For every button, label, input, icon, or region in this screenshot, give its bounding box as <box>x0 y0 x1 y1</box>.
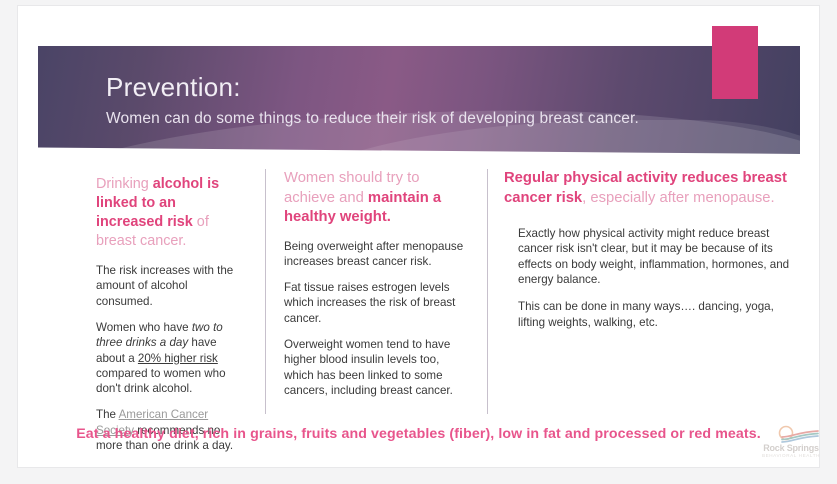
column-physical-activity: Regular physical activity reduces breast… <box>487 169 800 414</box>
column-heading: Women should try to achieve and maintain… <box>284 169 471 228</box>
column-heading: Regular physical activity reduces breast… <box>504 169 790 208</box>
column-healthy-weight: Women should try to achieve and maintain… <box>265 169 487 414</box>
logo-tagline: BEHAVIORAL HEALTH <box>760 453 822 458</box>
header-text-group: Prevention: Women can do some things to … <box>106 74 766 128</box>
body-paragraph: Being overweight after menopause increas… <box>284 239 471 270</box>
text-fragment: compared to women who don't drink alcoho… <box>96 367 226 395</box>
text-fragment-underlined: 20% higher risk <box>138 352 218 365</box>
slide-canvas: Prevention: Women can do some things to … <box>18 6 819 467</box>
text-fragment: The <box>96 408 119 421</box>
page-subtitle: Women can do some things to reduce their… <box>106 110 766 128</box>
page-title: Prevention: <box>106 74 766 101</box>
body-paragraph: This can be done in many ways…. dancing,… <box>518 299 790 330</box>
heading-segment: , especially after menopause. <box>582 190 774 206</box>
body-paragraph: Fat tissue raises estrogen levels which … <box>284 280 471 326</box>
body-paragraph: Exactly how physical activity might redu… <box>518 226 790 287</box>
footer-callout: Eat a healthy diet, rich in grains, frui… <box>18 426 819 442</box>
heading-segment: Drinking <box>96 176 153 192</box>
text-fragment: Women who have <box>96 321 192 334</box>
body-paragraph: Women who have two to three drinks a day… <box>96 320 245 396</box>
body-paragraph: The risk increases with the amount of al… <box>96 263 245 309</box>
rock-springs-logo: Rock Springs BEHAVIORAL HEALTH <box>760 424 822 466</box>
content-columns: Drinking alcohol is linked to an increas… <box>38 169 800 414</box>
column-alcohol: Drinking alcohol is linked to an increas… <box>38 169 265 414</box>
body-paragraph: Overweight women tend to have higher blo… <box>284 337 471 398</box>
column-heading: Drinking alcohol is linked to an increas… <box>96 175 245 251</box>
logo-name: Rock Springs <box>760 443 822 453</box>
